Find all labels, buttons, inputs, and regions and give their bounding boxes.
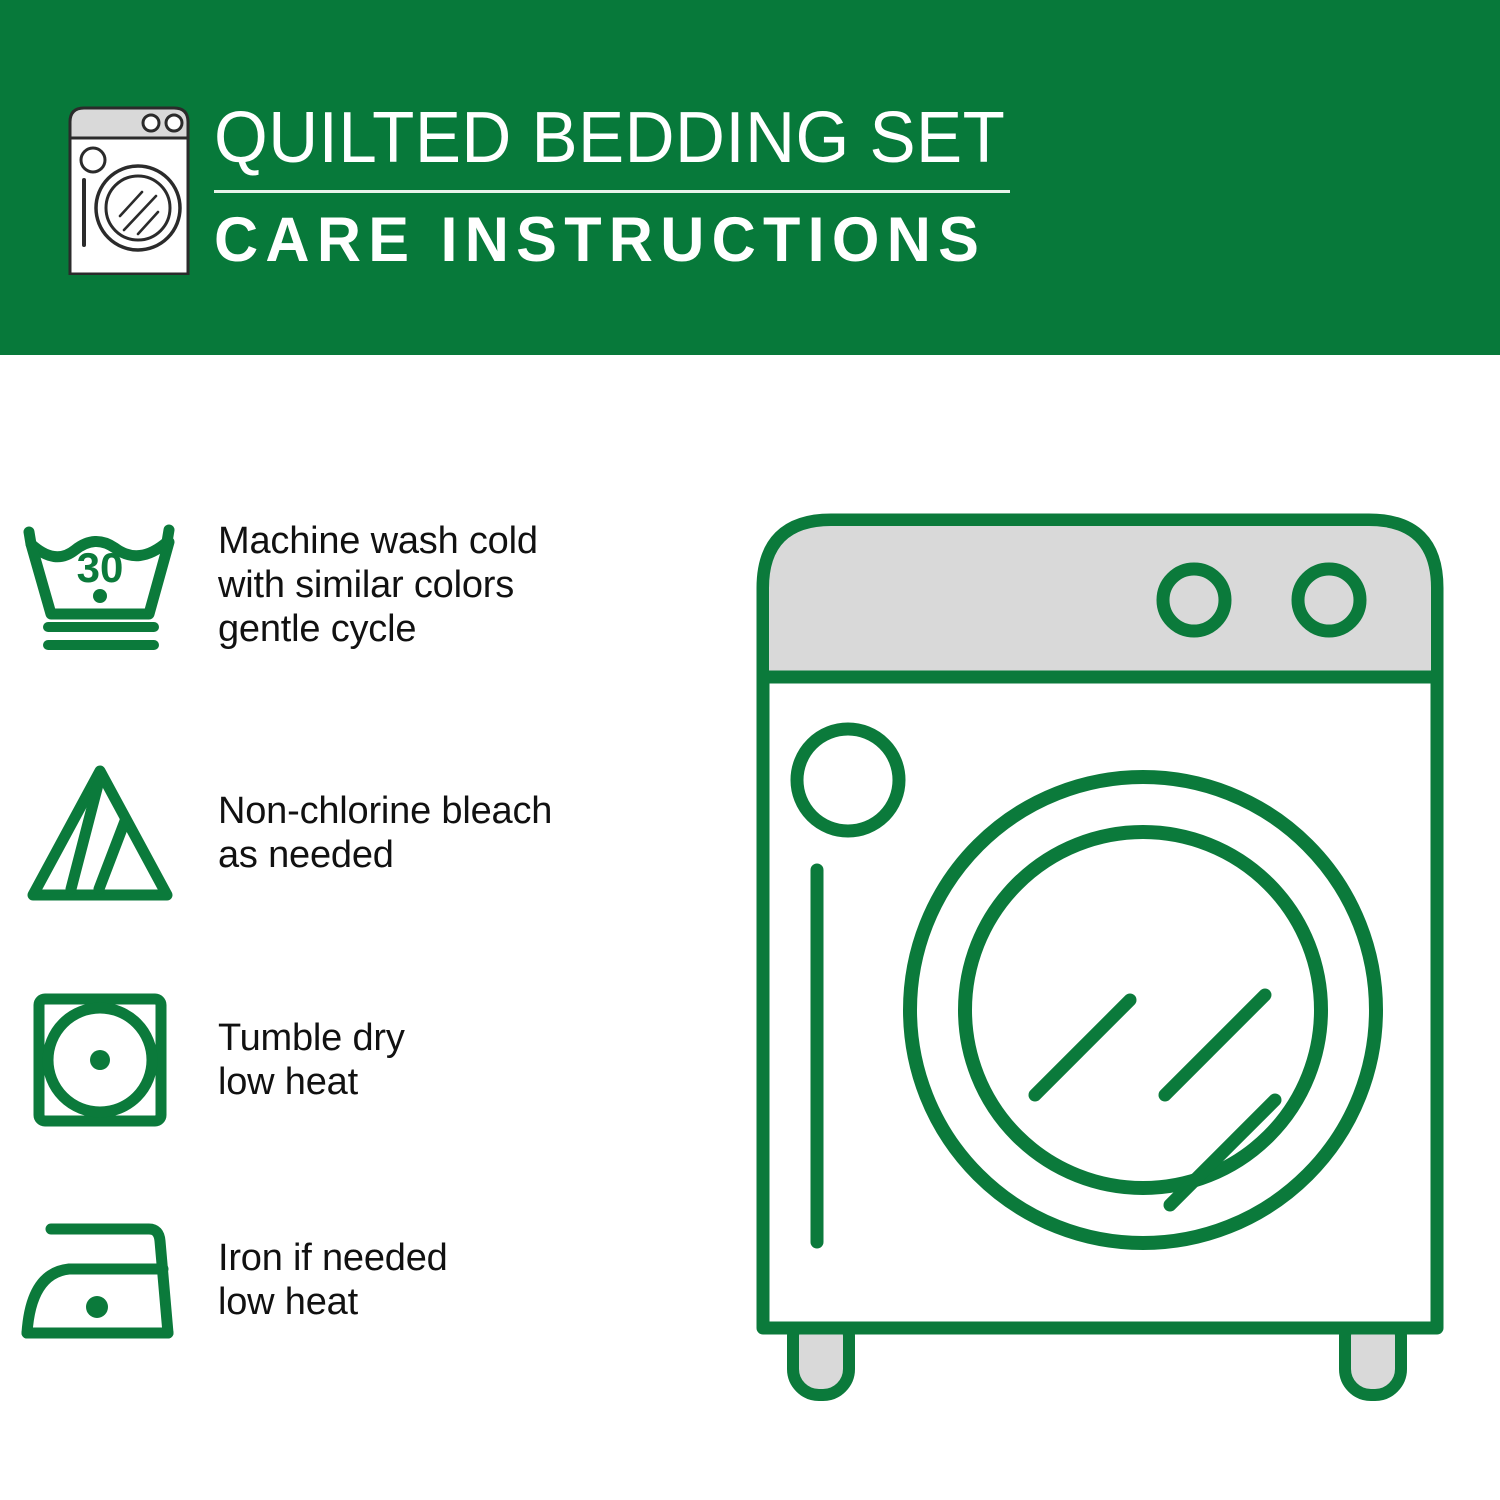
care-text-line: Non-chlorine bleach — [218, 789, 740, 833]
page-title: QUILTED BEDDING SET — [214, 96, 982, 180]
care-row-label: Iron if needed low heat — [200, 1236, 740, 1324]
care-text-line: with similar colors — [218, 563, 740, 607]
iron-low-heat-icon — [0, 1215, 200, 1345]
front-load-washing-machine-illustration — [745, 500, 1455, 1420]
care-text-line: Iron if needed — [218, 1236, 740, 1280]
header-text-block: QUILTED BEDDING SET CARE INSTRUCTIONS — [214, 96, 1014, 277]
care-row-label: Machine wash cold with similar colors ge… — [200, 519, 740, 651]
care-row-label: Non-chlorine bleach as needed — [200, 789, 740, 877]
washing-machine-icon — [58, 100, 206, 275]
header-banner: QUILTED BEDDING SET CARE INSTRUCTIONS — [0, 0, 1500, 355]
tumble-dry-low-icon — [0, 985, 200, 1135]
care-row-machine-wash: 30 Machine wash cold with similar colors… — [0, 510, 740, 660]
care-row-bleach: Non-chlorine bleach as needed — [0, 755, 740, 910]
page-subtitle: CARE INSTRUCTIONS — [214, 203, 990, 277]
care-text-line: as needed — [218, 833, 740, 877]
care-instruction-list: 30 Machine wash cold with similar colors… — [0, 355, 740, 1500]
care-text-line: gentle cycle — [218, 607, 740, 651]
care-row-label: Tumble dry low heat — [200, 1016, 740, 1104]
header-divider — [214, 190, 1010, 193]
care-text-line: low heat — [218, 1280, 740, 1324]
care-row-iron: Iron if needed low heat — [0, 1215, 740, 1345]
care-text-line: Machine wash cold — [218, 519, 740, 563]
non-chlorine-bleach-triangle-icon — [0, 755, 200, 910]
wash-tub-30-gentle-icon: 30 — [0, 510, 200, 660]
care-row-tumble-dry: Tumble dry low heat — [0, 985, 740, 1135]
svg-text:30: 30 — [77, 544, 124, 591]
care-text-line: low heat — [218, 1060, 740, 1104]
care-text-line: Tumble dry — [218, 1016, 740, 1060]
